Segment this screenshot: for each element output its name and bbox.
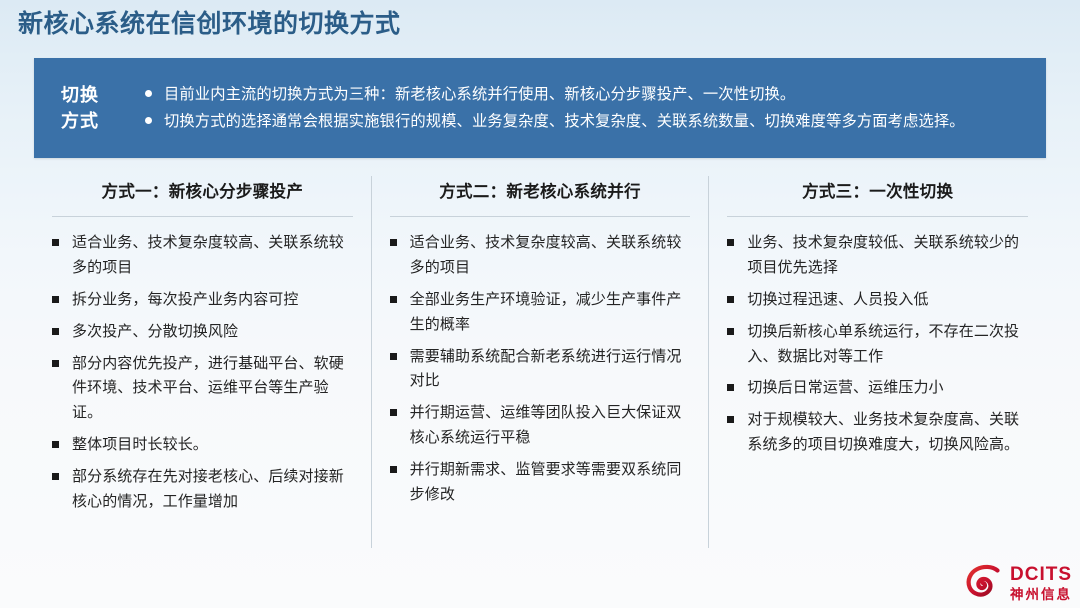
- list-item: 适合业务、技术复杂度较高、关联系统较多的项目: [386, 231, 695, 281]
- banner-bullet: 目前业内主流的切换方式为三种：新老核心系统并行使用、新核心分步骤投产、一次性切换…: [144, 83, 1022, 106]
- column-rule-divider: [52, 216, 353, 217]
- list-item: 对于规模较大、业务技术复杂度高、关联系统多的项目切换难度大，切换风险高。: [723, 408, 1032, 458]
- banner-label-line2: 方式: [61, 108, 99, 134]
- bullet-square-icon: [52, 360, 59, 367]
- list-item-text: 拆分业务，每次投产业务内容可控: [72, 291, 299, 308]
- bullet-square-icon: [390, 239, 397, 246]
- column-title: 方式一：新核心分步骤投产: [48, 178, 357, 202]
- banner-bullet-text: 切换方式的选择通常会根据实施银行的规模、业务复杂度、技术复杂度、关联系统数量、切…: [164, 113, 965, 130]
- column-method-one: 方式一：新核心分步骤投产 适合业务、技术复杂度较高、关联系统较多的项目 拆分业务…: [34, 170, 371, 560]
- list-item-text: 需要辅助系统配合新老系统进行运行情况对比: [410, 348, 682, 390]
- list-item: 并行期运营、运维等团队投入巨大保证双核心系统运行平稳: [386, 401, 695, 451]
- column-rule-divider: [727, 216, 1028, 217]
- list-item: 全部业务生产环境验证，减少生产事件产生的概率: [386, 288, 695, 338]
- list-item: 需要辅助系统配合新老系统进行运行情况对比: [386, 345, 695, 395]
- bullet-square-icon: [390, 466, 397, 473]
- bullet-square-icon: [52, 328, 59, 335]
- page-title: 新核心系统在信创环境的切换方式: [18, 8, 401, 41]
- list-item-text: 整体项目时长较长。: [72, 436, 208, 453]
- list-item-text: 切换后新核心单系统运行，不存在二次投入、数据比对等工作: [747, 323, 1019, 365]
- bullet-list: 业务、技术复杂度较低、关联系统较少的项目优先选择 切换过程迅速、人员投入低 切换…: [723, 231, 1032, 458]
- list-item: 适合业务、技术复杂度较高、关联系统较多的项目: [48, 231, 357, 281]
- bullet-list: 适合业务、技术复杂度较高、关联系统较多的项目 拆分业务，每次投产业务内容可控 多…: [48, 231, 357, 515]
- banner-bullet-text: 目前业内主流的切换方式为三种：新老核心系统并行使用、新核心分步骤投产、一次性切换…: [164, 86, 795, 103]
- list-item: 部分系统存在先对接老核心、后续对接新核心的情况，工作量增加: [48, 465, 357, 515]
- columns-container: 方式一：新核心分步骤投产 适合业务、技术复杂度较高、关联系统较多的项目 拆分业务…: [34, 170, 1046, 560]
- bullet-square-icon: [52, 441, 59, 448]
- list-item: 多次投产、分散切换风险: [48, 320, 357, 345]
- bullet-square-icon: [727, 328, 734, 335]
- column-title: 方式二：新老核心系统并行: [386, 178, 695, 202]
- logo-name: DCITS: [1010, 565, 1072, 584]
- list-item-text: 全部业务生产环境验证，减少生产事件产生的概率: [410, 291, 682, 333]
- banner-label-line1: 切换: [61, 82, 99, 108]
- bullet-square-icon: [390, 409, 397, 416]
- column-title: 方式三：一次性切换: [723, 178, 1032, 202]
- list-item-text: 部分内容优先投产，进行基础平台、软硬件环境、技术平台、运维平台等生产验证。: [72, 355, 344, 422]
- list-item: 部分内容优先投产，进行基础平台、软硬件环境、技术平台、运维平台等生产验证。: [48, 352, 357, 427]
- bullet-square-icon: [52, 239, 59, 246]
- list-item-text: 适合业务、技术复杂度较高、关联系统较多的项目: [72, 234, 344, 276]
- bullet-square-icon: [727, 384, 734, 391]
- list-item-text: 并行期运营、运维等团队投入巨大保证双核心系统运行平稳: [410, 404, 682, 446]
- dcits-swirl-icon: [964, 564, 1004, 602]
- bullet-dot-icon: [145, 117, 152, 124]
- company-logo: DCITS 神州信息: [964, 564, 1072, 602]
- bullet-square-icon: [727, 416, 734, 423]
- list-item: 切换后日常运营、运维压力小: [723, 376, 1032, 401]
- column-rule-divider: [390, 216, 691, 217]
- banner-body: 目前业内主流的切换方式为三种：新老核心系统并行使用、新核心分步骤投产、一次性切换…: [126, 58, 1046, 158]
- bullet-square-icon: [727, 239, 734, 246]
- list-item-text: 部分系统存在先对接老核心、后续对接新核心的情况，工作量增加: [72, 468, 344, 510]
- list-item-text: 对于规模较大、业务技术复杂度高、关联系统多的项目切换难度大，切换风险高。: [747, 411, 1019, 453]
- slide-canvas: 新核心系统在信创环境的切换方式 切换 方式 目前业内主流的切换方式为三种：新老核…: [0, 0, 1080, 608]
- bullet-list: 适合业务、技术复杂度较高、关联系统较多的项目 全部业务生产环境验证，减少生产事件…: [386, 231, 695, 508]
- list-item-text: 并行期新需求、监管要求等需要双系统同步修改: [410, 461, 682, 503]
- column-method-three: 方式三：一次性切换 业务、技术复杂度较低、关联系统较少的项目优先选择 切换过程迅…: [709, 170, 1046, 560]
- list-item-text: 切换后日常运营、运维压力小: [747, 379, 943, 396]
- list-item: 切换后新核心单系统运行，不存在二次投入、数据比对等工作: [723, 320, 1032, 370]
- bullet-square-icon: [390, 353, 397, 360]
- list-item-text: 切换过程迅速、人员投入低: [747, 291, 928, 308]
- list-item: 并行期新需求、监管要求等需要双系统同步修改: [386, 458, 695, 508]
- bullet-square-icon: [52, 296, 59, 303]
- list-item-text: 业务、技术复杂度较低、关联系统较少的项目优先选择: [747, 234, 1019, 276]
- bullet-square-icon: [390, 296, 397, 303]
- list-item: 整体项目时长较长。: [48, 433, 357, 458]
- bullet-square-icon: [52, 473, 59, 480]
- list-item: 切换过程迅速、人员投入低: [723, 288, 1032, 313]
- bullet-square-icon: [727, 296, 734, 303]
- bullet-dot-icon: [145, 90, 152, 97]
- logo-text-block: DCITS 神州信息: [1010, 565, 1072, 602]
- list-item: 拆分业务，每次投产业务内容可控: [48, 288, 357, 313]
- column-method-two: 方式二：新老核心系统并行 适合业务、技术复杂度较高、关联系统较多的项目 全部业务…: [372, 170, 709, 560]
- summary-banner: 切换 方式 目前业内主流的切换方式为三种：新老核心系统并行使用、新核心分步骤投产…: [34, 58, 1046, 158]
- banner-bullet: 切换方式的选择通常会根据实施银行的规模、业务复杂度、技术复杂度、关联系统数量、切…: [144, 110, 1022, 133]
- banner-label: 切换 方式: [34, 58, 126, 158]
- list-item-text: 多次投产、分散切换风险: [72, 323, 238, 340]
- list-item: 业务、技术复杂度较低、关联系统较少的项目优先选择: [723, 231, 1032, 281]
- logo-subtitle: 神州信息: [1010, 588, 1072, 602]
- list-item-text: 适合业务、技术复杂度较高、关联系统较多的项目: [410, 234, 682, 276]
